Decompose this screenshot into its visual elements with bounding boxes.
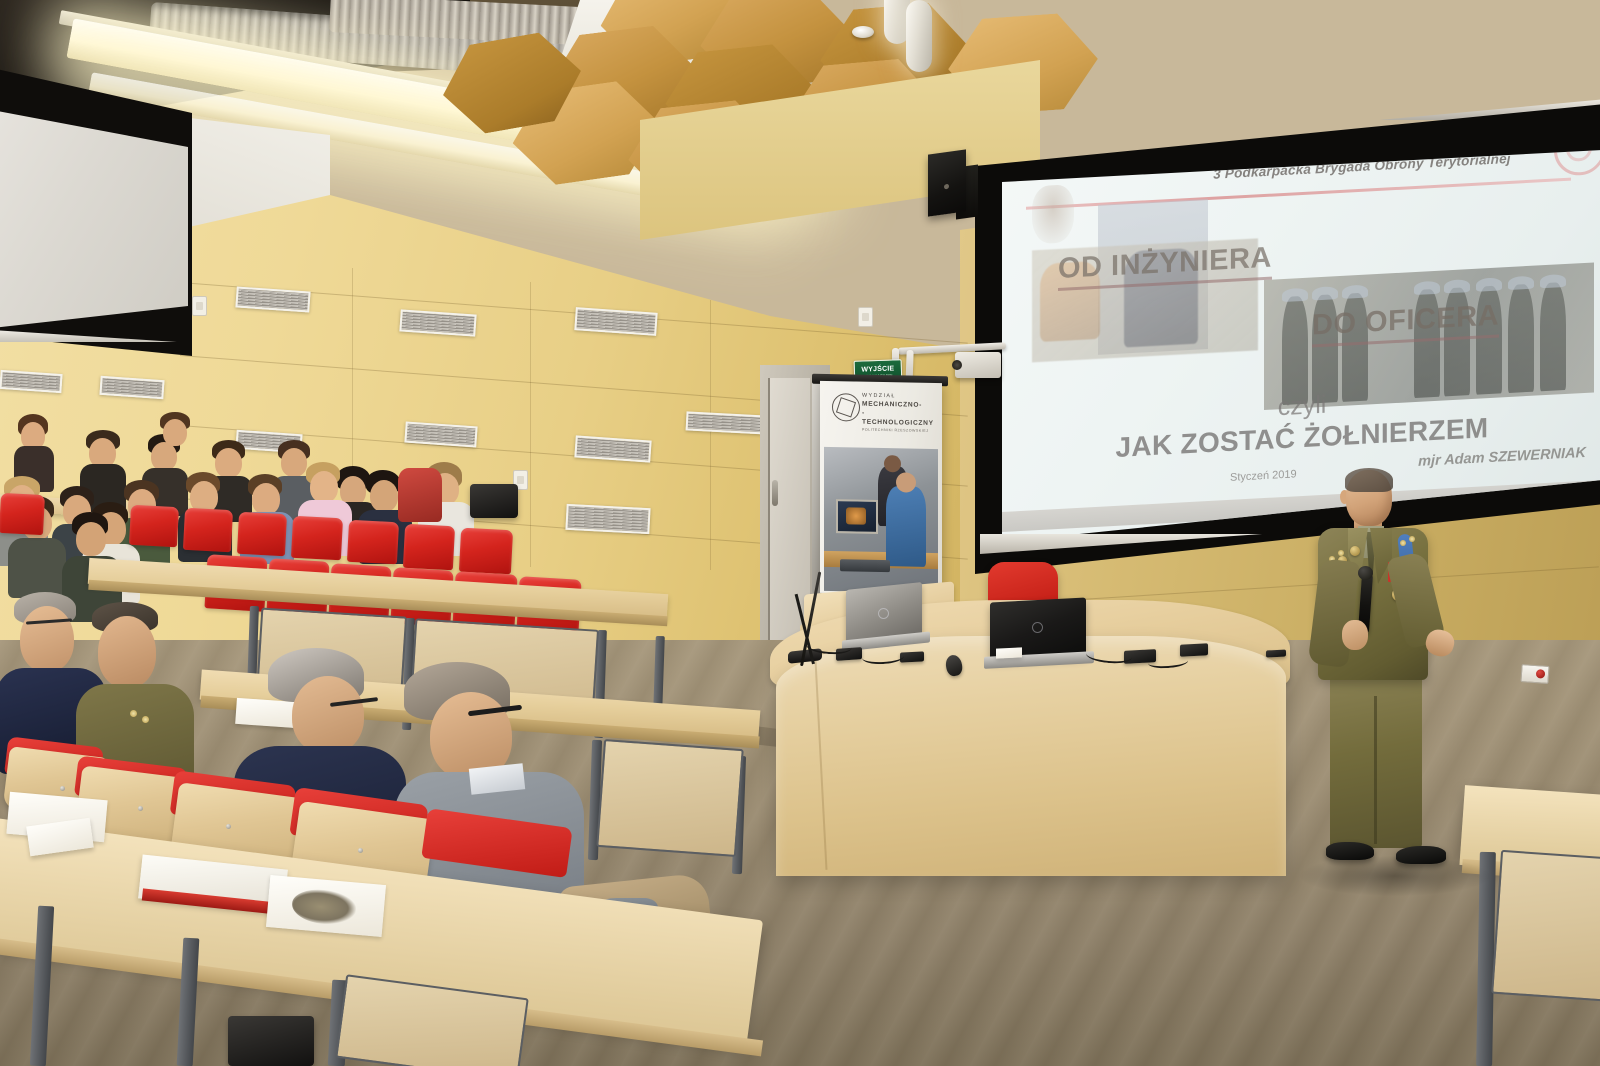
rank-star-icon xyxy=(1409,536,1415,542)
polish-eagle-emblem-icon xyxy=(1032,184,1074,244)
red-coat-on-seat xyxy=(398,468,442,522)
auditorium-seat[interactable] xyxy=(403,524,455,571)
wall-seam-vertical xyxy=(530,282,531,567)
officer-hand-left xyxy=(1342,620,1368,650)
rank-star-icon xyxy=(1400,540,1406,546)
projector-lens-icon xyxy=(952,360,962,370)
emergency-stop-button-panel[interactable] xyxy=(1520,664,1549,684)
wall-loudspeaker-icon xyxy=(928,149,966,216)
officer-shoe-left xyxy=(1326,842,1374,860)
roll-up-banner: WYDZIAŁ MECHANICZNO- -TECHNOLOGICZNY POL… xyxy=(820,381,942,595)
auditorium-seat[interactable] xyxy=(291,516,343,561)
seat-screw xyxy=(226,824,231,829)
rank-insignia-icon xyxy=(130,710,137,717)
wall-seam-vertical xyxy=(710,300,711,570)
banner-line-4: POLITECHNIKI RZESZOWSKIEJ xyxy=(862,427,936,435)
microphone-head-icon xyxy=(1358,566,1373,580)
rank-insignia-icon xyxy=(142,716,149,723)
banner-photo xyxy=(824,447,938,593)
document-on-desk xyxy=(235,698,299,728)
banner-line-3: -TECHNOLOGICZNY xyxy=(862,409,936,428)
seat-screw xyxy=(358,848,363,853)
laptop-asset-label xyxy=(996,647,1022,658)
banner-line-2: MECHANICZNO- xyxy=(862,400,936,410)
officer-trouser-crease xyxy=(1374,696,1377,844)
auditorium-seat[interactable] xyxy=(237,512,287,556)
door-handle[interactable] xyxy=(772,480,778,506)
auditorium-seat[interactable] xyxy=(183,508,233,552)
laptop-bag xyxy=(228,1016,314,1066)
officer-hair xyxy=(1345,468,1393,492)
slide-date: Styczeń 2019 xyxy=(1230,468,1297,484)
faculty-logo-icon xyxy=(832,393,860,422)
officer-badge-icon xyxy=(1350,546,1360,556)
banner-photo-person-male xyxy=(886,486,926,567)
auditorium-seat[interactable] xyxy=(459,528,513,575)
presenter-officer xyxy=(1296,470,1464,880)
dell-logo-icon xyxy=(878,608,889,619)
rank-star-icon xyxy=(1338,550,1344,556)
slide-author: mjr Adam SZEWERNIAK xyxy=(1418,445,1586,470)
wall-vent-grille xyxy=(565,504,650,534)
smoke-detector-icon xyxy=(852,26,874,38)
auditorium-seat[interactable] xyxy=(347,520,399,565)
seat-screw xyxy=(60,786,65,791)
banner-photo-monitor xyxy=(836,499,878,534)
auditorium-seat[interactable] xyxy=(129,505,179,547)
dell-logo-icon xyxy=(1032,622,1043,633)
officer-shoe-right xyxy=(1396,846,1446,864)
lectern-front-panel xyxy=(776,636,1286,876)
desk-modesty-panel xyxy=(1491,850,1600,1002)
pendant-light xyxy=(906,0,932,72)
desk-modesty-panel xyxy=(596,739,744,857)
wall-socket[interactable] xyxy=(858,307,873,327)
auditorium-seat[interactable] xyxy=(0,493,45,535)
secondary-projection-screen xyxy=(0,110,188,328)
seat-screw xyxy=(138,806,143,811)
wall-socket[interactable] xyxy=(192,296,207,316)
backpack xyxy=(470,484,518,518)
lecture-hall-photo: 3 Podkarpacka Brygada Obrony Terytorialn… xyxy=(0,0,1600,1066)
remote-clicker[interactable] xyxy=(1266,649,1286,657)
